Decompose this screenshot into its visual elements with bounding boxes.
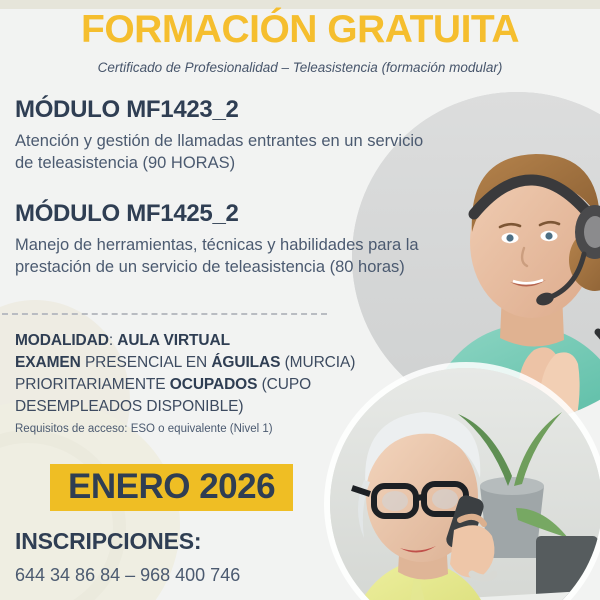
detail-modalidad: MODALIDAD: AULA VIRTUAL [15, 330, 415, 352]
requisitos-text: Requisitos de acceso: ESO o equivalente … [15, 423, 273, 435]
inscripciones-heading: INSCRIPCIONES: [15, 528, 201, 555]
module-2-description: Manejo de herramientas, técnicas y habil… [15, 234, 435, 279]
module-2-title: MÓDULO MF1425_2 [15, 200, 435, 228]
modalidad-value: AULA VIRTUAL [117, 332, 230, 349]
dashed-divider [2, 313, 327, 315]
date-banner: ENERO 2026 [50, 464, 293, 511]
contact-phones[interactable]: 644 34 86 84 – 968 400 746 [15, 565, 240, 586]
page-subtitle: Certificado de Profesionalidad – Teleasi… [0, 60, 600, 75]
module-1-description: Atención y gestión de llamadas entrantes… [15, 130, 435, 175]
prioridad-target: OCUPADOS [170, 376, 258, 393]
prioridad-suffix: (CUPO [262, 376, 311, 393]
examen-province: (MURCIA) [285, 354, 356, 371]
module-1-title: MÓDULO MF1423_2 [15, 96, 435, 124]
course-details: MODALIDAD: AULA VIRTUAL EXAMEN PRESENCIA… [15, 330, 415, 418]
prioridad-prefix: PRIORITARIAMENTE [15, 376, 166, 393]
examen-place: ÁGUILAS [211, 354, 280, 371]
flyer-poster: FORMACIÓN GRATUITA Certificado de Profes… [0, 0, 600, 600]
examen-label: EXAMEN [15, 354, 81, 371]
detail-prioridad-line2: DESEMPLEADOS DISPONIBLE) [15, 396, 415, 418]
prioridad-line2-text: DESEMPLEADOS DISPONIBLE) [15, 398, 243, 415]
detail-examen: EXAMEN PRESENCIAL EN ÁGUILAS (MURCIA) [15, 352, 415, 374]
page-title: FORMACIÓN GRATUITA [0, 8, 600, 52]
module-block-2: MÓDULO MF1425_2 Manejo de herramientas, … [15, 200, 435, 279]
detail-prioridad: PRIORITARIAMENTE OCUPADOS (CUPO [15, 374, 415, 396]
modalidad-label: MODALIDAD [15, 332, 109, 349]
colon-separator: : [109, 332, 117, 349]
examen-text: PRESENCIAL EN [85, 354, 207, 371]
module-block-1: MÓDULO MF1423_2 Atención y gestión de ll… [15, 96, 435, 175]
